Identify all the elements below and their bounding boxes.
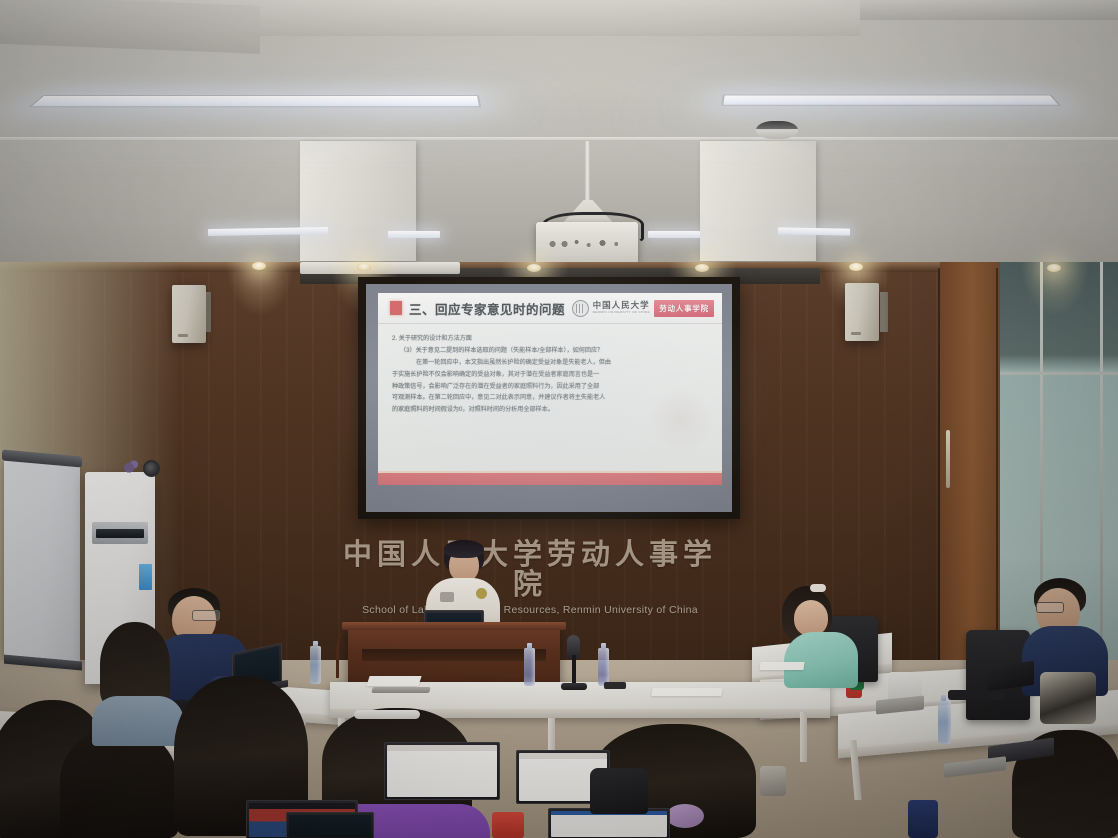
slide-footer-bar xyxy=(378,471,722,485)
table-leg-3 xyxy=(800,712,807,762)
downlight-5 xyxy=(849,263,863,271)
slide-title: 三、回应专家意见时的问题 xyxy=(409,299,565,318)
shoe xyxy=(760,766,786,796)
strip-light-3 xyxy=(648,231,700,238)
slide-line-5: 种政策信号，会影响广泛存在的潜在受益者的家庭照料行为，因此采用了全部 xyxy=(392,381,708,393)
downlight-6 xyxy=(1047,264,1061,272)
podium-panel-groove xyxy=(362,649,546,661)
panelist-right-a-papers xyxy=(759,662,804,670)
papers-on-table-2 xyxy=(651,688,722,696)
hoodie-print xyxy=(440,592,454,602)
water-bottle-5 xyxy=(938,700,951,744)
hoodie-logo xyxy=(476,588,487,599)
backpack xyxy=(590,768,648,814)
panelist-right-a-head xyxy=(794,600,828,636)
downlight-1 xyxy=(252,262,266,270)
strip-light-2 xyxy=(388,231,440,238)
hair-scrunchie xyxy=(666,804,704,828)
microphone-base xyxy=(561,683,587,690)
panelist-right-a-sweater xyxy=(784,632,858,688)
slide-line-4: 于实施长护险不仅会影响确定的受益对象，其对于潜在受益者家庭而言也是一 xyxy=(392,369,708,381)
thermos-cup-red-2 xyxy=(492,812,524,838)
university-logo: 中国人民大学 RENMIN UNIVERSITY OF CHINA 劳动人事学院 xyxy=(572,300,714,317)
university-seal-icon xyxy=(572,300,589,317)
ceiling-drop-column-left xyxy=(300,141,416,261)
projection-screen: 三、回应专家意见时的问题 中国人民大学 RENMIN UNIVERSITY OF… xyxy=(358,277,740,519)
strip-light-4 xyxy=(778,227,850,235)
slide-line-1: 2. 关于研究的设计和方法方面 xyxy=(392,333,708,345)
podium-top-rail xyxy=(342,622,566,630)
ceiling-soffit-left xyxy=(0,0,260,54)
wall-speaker-right-side xyxy=(880,292,888,332)
slide-watermark xyxy=(646,389,716,451)
hair-clip xyxy=(810,584,826,592)
coat-on-chair xyxy=(1040,672,1096,724)
ac-vent xyxy=(92,522,148,544)
water-bottle-1 xyxy=(524,648,535,686)
small-plant xyxy=(121,458,141,474)
projector-icon xyxy=(536,222,638,266)
door-seam-left xyxy=(938,268,940,668)
water-bottle-2 xyxy=(598,648,609,686)
projector-mount-rod xyxy=(585,141,590,203)
slide-surface: 三、回应专家意见时的问题 中国人民大学 RENMIN UNIVERSITY OF… xyxy=(378,293,722,485)
smoke-detector-icon xyxy=(756,121,798,139)
wall-speaker-right-icon xyxy=(845,283,879,341)
university-name-cn: 中国人民大学 xyxy=(593,301,651,310)
ceiling-recess xyxy=(160,0,860,36)
door-handle[interactable] xyxy=(946,430,950,488)
projector-ports xyxy=(544,234,630,254)
chair-arm-right xyxy=(948,690,1004,700)
glass-horizontal-rail xyxy=(1000,372,1118,375)
ac-energy-label xyxy=(139,564,152,590)
school-badge: 劳动人事学院 xyxy=(654,300,714,317)
slide-line-3: 在第一轮回应中，本文指出虽然长护险的确定受益对象是失能老人，但由 xyxy=(392,357,708,369)
downlight-2 xyxy=(357,263,371,271)
lecture-room-photo: 三、回应专家意见时的问题 中国人民大学 RENMIN UNIVERSITY OF… xyxy=(0,0,1118,838)
tablet-on-table-1 xyxy=(371,687,430,693)
whiteboard-flipchart xyxy=(4,459,80,662)
audience-member-3 xyxy=(96,622,178,742)
downlight-glow-1 xyxy=(225,262,295,316)
wall-speaker-left-icon xyxy=(172,285,206,343)
eyeglasses-icon-2 xyxy=(1036,602,1064,613)
headband xyxy=(354,710,420,719)
podium-cable xyxy=(336,632,355,678)
ceiling-drop-column-right xyxy=(700,141,816,261)
university-name-en: RENMIN UNIVERSITY OF CHINA xyxy=(593,311,651,314)
title-accent-square xyxy=(390,301,402,315)
led-panel-light-right xyxy=(721,94,1061,105)
audience-3-top xyxy=(92,696,184,746)
slide-header: 三、回应专家意见时的问题 中国人民大学 RENMIN UNIVERSITY OF… xyxy=(378,293,722,324)
mic-receiver xyxy=(604,682,626,689)
downlight-4 xyxy=(695,264,709,272)
door-seam-right xyxy=(996,268,998,668)
presenter-fringe xyxy=(444,540,484,558)
papers-on-table-1 xyxy=(366,676,421,686)
thermos-cup-navy xyxy=(908,800,938,838)
slide-line-2: （3）关于意见二提到的样本选取的问题（失能样本/全部样本），如何回应？ xyxy=(392,345,708,357)
led-panel-light-left xyxy=(29,95,482,107)
camera-icon xyxy=(143,460,160,477)
downlight-3 xyxy=(527,264,541,272)
eyeglasses-icon xyxy=(192,610,220,621)
